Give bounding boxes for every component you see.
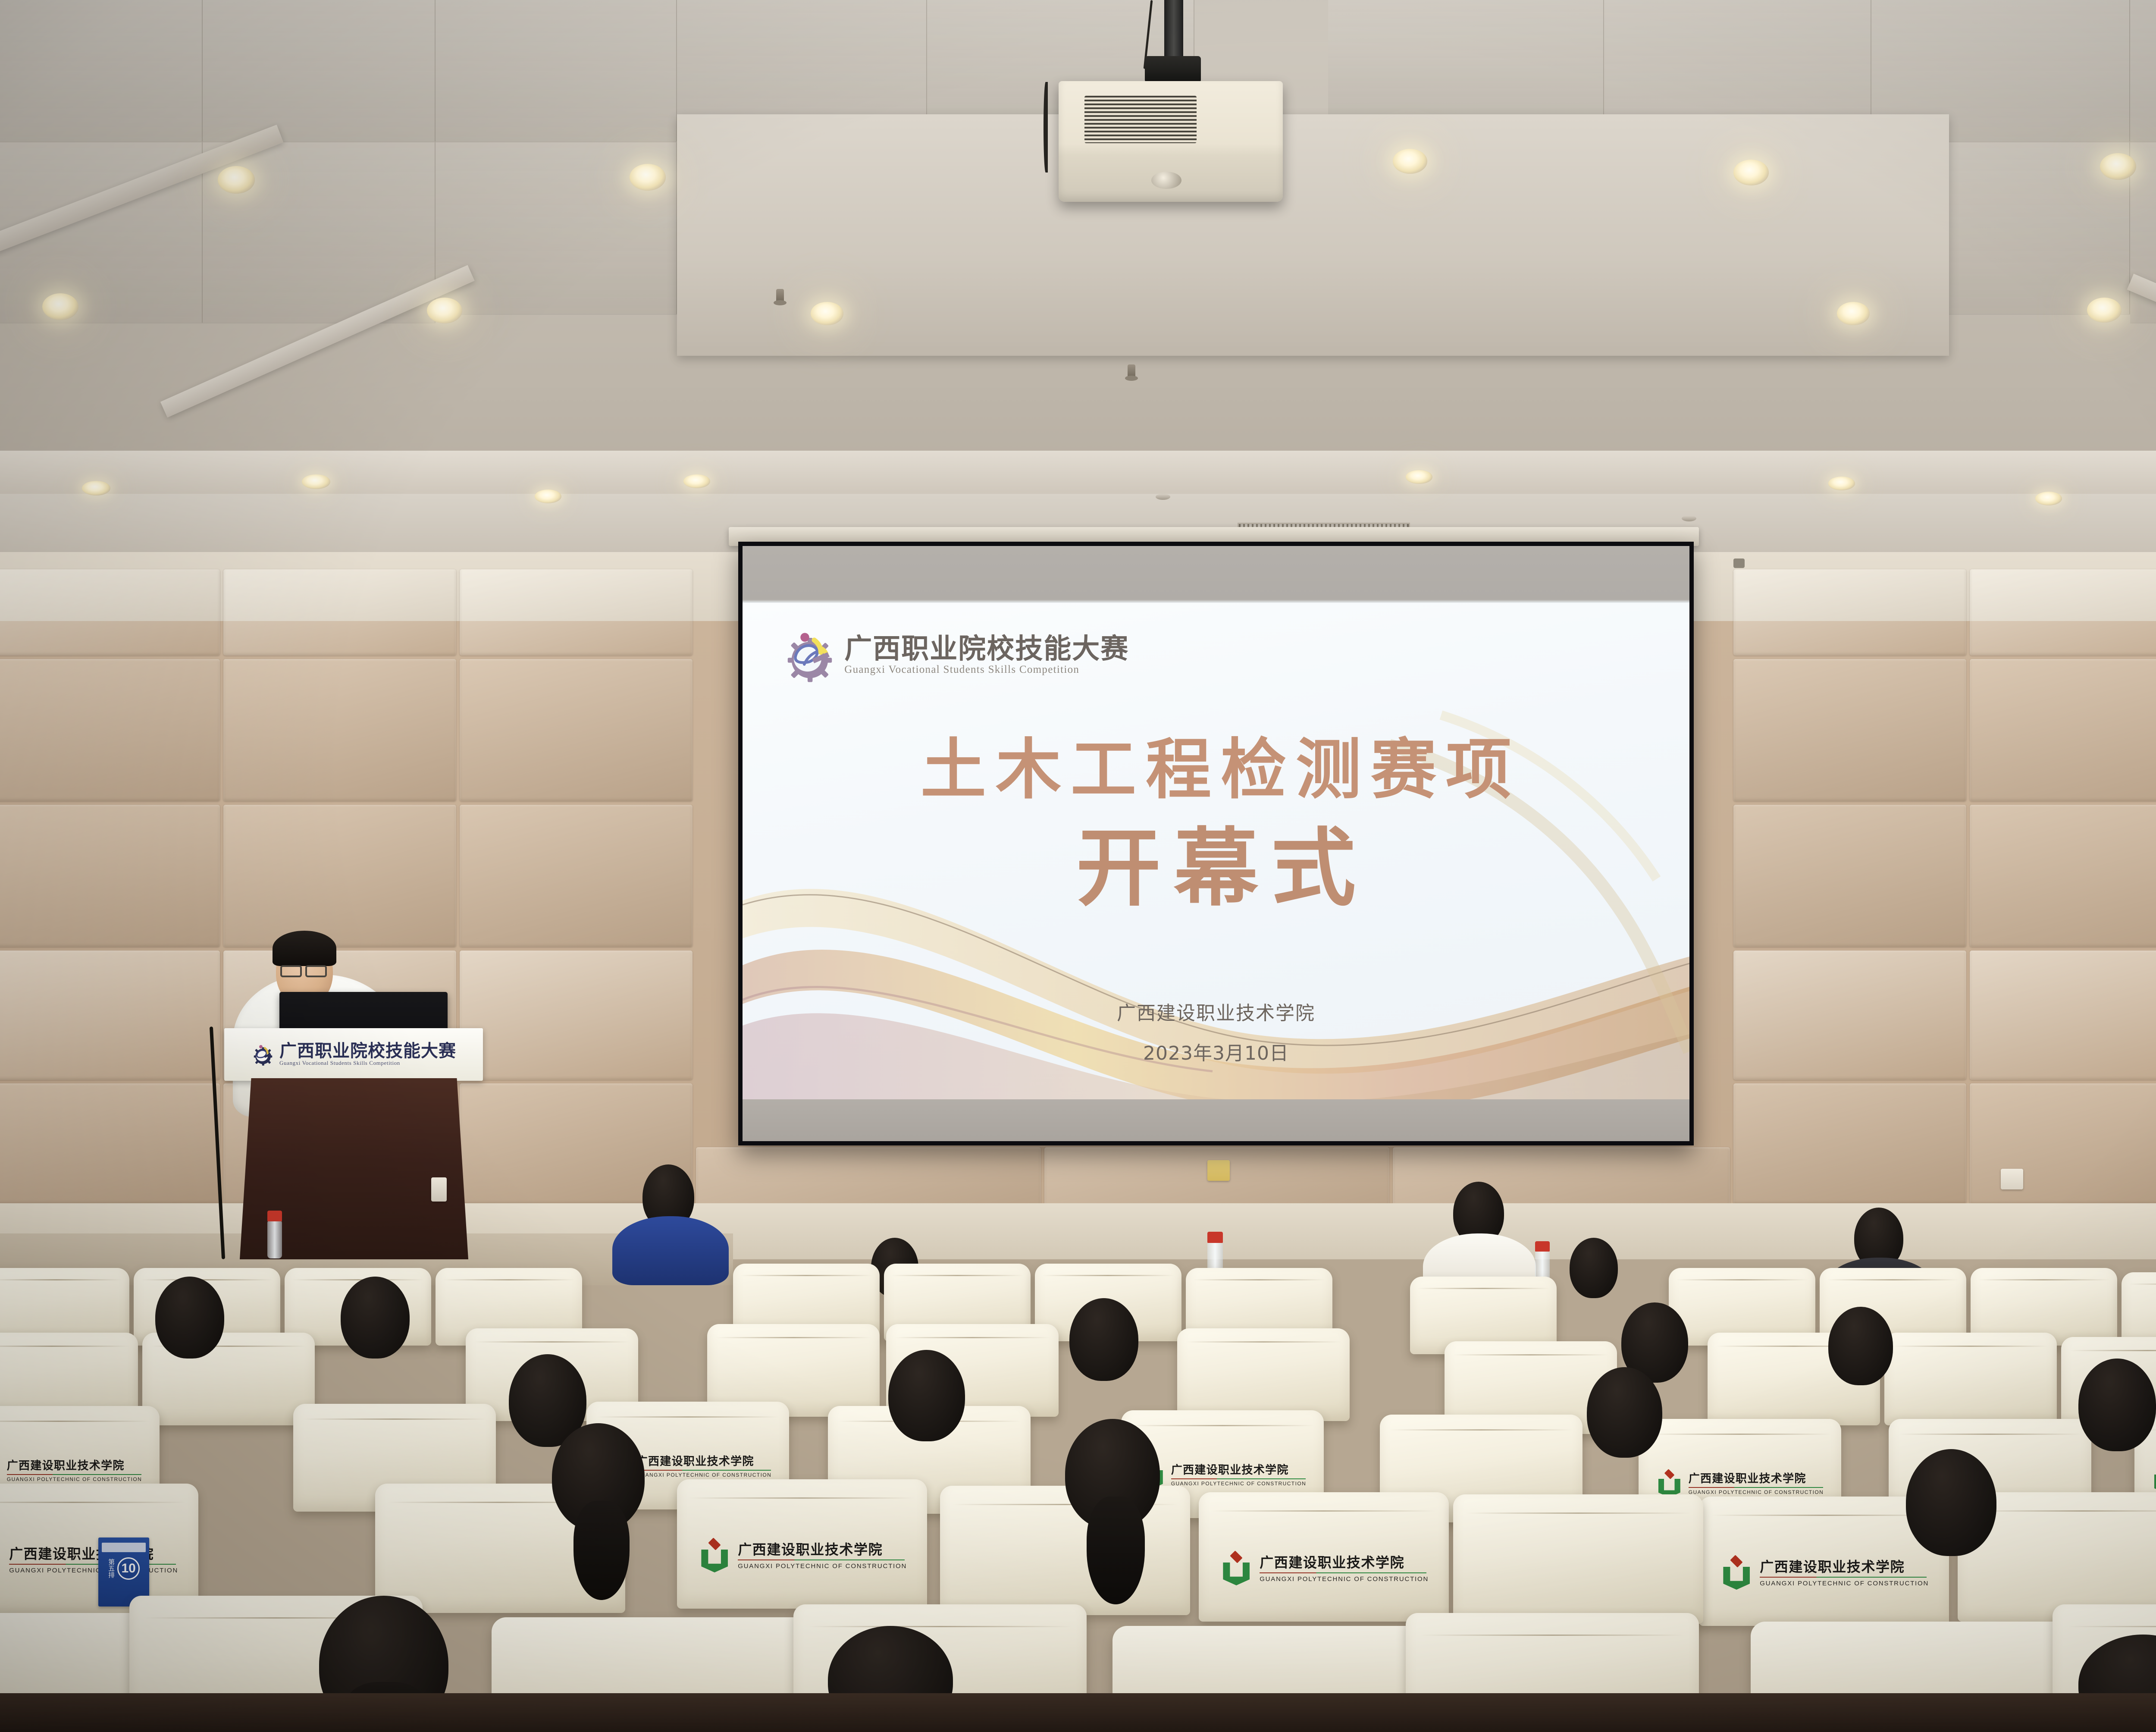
chair-logo-cn: 广西建设职业技术学院 [1689, 1473, 1823, 1484]
chair[interactable] [1453, 1494, 1703, 1624]
floor [0, 1693, 2156, 1732]
audience-hair [573, 1501, 630, 1600]
wall-panel [1733, 1083, 1966, 1204]
wall-panel [1970, 805, 2156, 947]
chair-logo-en: GUANGXI POLYTECHNIC OF CONSTRUCTION [1689, 1490, 1823, 1495]
presenter-hair [273, 931, 336, 966]
wall-panel [460, 805, 693, 947]
chair-logo: 广西建设职业技术学院 GUANGXI POLYTECHNIC OF CONSTR… [1721, 1557, 1927, 1590]
chair-logo: 广西建设职业技术学院 GUANGXI POLYTECHNIC OF CONSTR… [1221, 1553, 1426, 1585]
audience-head [1570, 1238, 1618, 1298]
seat-number: 10 [117, 1557, 140, 1580]
chair-logo-en: GUANGXI POLYTECHNIC OF CONSTRUCTION [9, 1567, 176, 1574]
sprinkler-head [1128, 364, 1135, 379]
podium-outlet[interactable] [431, 1177, 447, 1202]
projection-screen[interactable]: 广西职业院校技能大赛 Guangxi Vocational Students S… [738, 542, 1694, 1145]
ceiling-downlight [683, 474, 710, 488]
ceiling-downlight [630, 164, 666, 191]
chair-logo-cn: 广西建设职业技术学院 [7, 1460, 141, 1472]
ceiling-downlight [2100, 153, 2136, 180]
wall-panel [1733, 951, 1966, 1080]
ceiling-downlight [2087, 298, 2122, 323]
ceiling-downlight [2035, 492, 2062, 505]
smoke-detector [1682, 515, 1696, 521]
ceiling-recess [677, 114, 1949, 356]
ceiling-panel [0, 0, 203, 142]
wall-panel [223, 659, 456, 801]
chair-logo-en: GUANGXI POLYTECHNIC OF CONSTRUCTION [1171, 1481, 1306, 1486]
wall-panel [1733, 569, 1966, 656]
chair-logo-cn: 广西建设职业技术学院 [1260, 1556, 1426, 1569]
gxpc-logo-icon [1221, 1553, 1251, 1585]
ceiling-downlight [1837, 302, 1870, 325]
chair-logo-en: GUANGXI POLYTECHNIC OF CONSTRUCTION [738, 1563, 905, 1569]
ceiling-projector [1059, 81, 1283, 202]
wall-panel [223, 805, 456, 947]
chair-logo-cn: 广西建设职业技术学院 [1760, 1560, 1927, 1574]
ceiling-panel [1328, 0, 1604, 116]
wall-panel [0, 659, 220, 801]
ceiling-downlight [1733, 160, 1769, 185]
ceiling-downlight [1828, 477, 1855, 490]
chair-logo-en: GUANGXI POLYTECHNIC OF CONSTRUCTION [636, 1472, 771, 1478]
auditorium-scene: 广西职业院校技能大赛 Guangxi Vocational Students S… [0, 0, 2156, 1732]
audience-head [1587, 1367, 1662, 1458]
water-bottle[interactable] [267, 1221, 282, 1258]
gxpc-logo-icon [1657, 1471, 1682, 1497]
podium-banner: 广西职业院校技能大赛 Guangxi Vocational Students S… [224, 1028, 483, 1081]
competition-logo-en: Guangxi Vocational Students Skills Compe… [844, 664, 1129, 676]
projector-bracket [1145, 56, 1201, 83]
chair-logo-en: GUANGXI POLYTECHNIC OF CONSTRUCTION [1760, 1580, 1927, 1587]
slide-subtitle: 开幕式 [743, 826, 1689, 911]
audience-head [155, 1277, 224, 1359]
screen-surface: 广西职业院校技能大赛 Guangxi Vocational Students S… [743, 546, 1689, 1141]
slide-organization: 广西建设职业技术学院 [743, 998, 1689, 1025]
chair-logo-cn: 广西建设职业技术学院 [1171, 1465, 1306, 1476]
competition-logo: 广西职业院校技能大赛 Guangxi Vocational Students S… [782, 628, 1129, 683]
projector-power-cable [1044, 82, 1048, 173]
chair-logo: 广西建设职业技术学院 GUANGXI POLYTECHNIC OF CONSTR… [0, 1458, 141, 1484]
audience-head [2078, 1359, 2156, 1451]
gxpc-logo-icon [1721, 1557, 1752, 1590]
wall-panel [460, 659, 693, 801]
slide-title: 土木工程检测赛项 [743, 737, 1689, 803]
wall-sensor [1733, 559, 1745, 568]
wall-panel [460, 951, 693, 1080]
ceiling-downlight [811, 302, 843, 325]
wall-panel [1970, 569, 2156, 656]
gxpc-logo-icon [0, 1544, 1, 1577]
ceiling-downlight [1393, 149, 1427, 174]
sprinkler-head [776, 289, 784, 304]
chair-logo: 广西建设职业技术学院 GUANGXI POLYTECHNIC OF CONSTR… [699, 1540, 905, 1572]
gear-icon [251, 1042, 275, 1067]
ceiling-downlight [1406, 470, 1432, 484]
chair-logo-cn: 广西建设职业技术学院 [636, 1456, 771, 1467]
wall-panel [1970, 1083, 2156, 1204]
chair-logo-cn: 广西建设职业技术学院 [738, 1543, 905, 1556]
ceiling-panel [203, 0, 436, 142]
wall-outlet[interactable] [2001, 1169, 2023, 1189]
chair[interactable] [1177, 1328, 1350, 1421]
chair-logo: 广西建设职业技术学院 GUANGXI POLYTECHNIC OF CONSTR… [1139, 1462, 1305, 1489]
podium-banner-cn: 广西职业院校技能大赛 [279, 1042, 456, 1060]
audience-head [1828, 1307, 1893, 1385]
audience-hair [1087, 1497, 1145, 1604]
gxpc-logo-icon [2153, 1466, 2156, 1493]
chair-logo: 广西建设职业技术学院 GUANGXI POLYTECHNIC OF CONSTR… [2153, 1466, 2156, 1493]
smoke-detector [1156, 494, 1170, 500]
wall-panel [223, 569, 456, 656]
ceiling-panel [2130, 0, 2156, 142]
gxpc-logo-icon [699, 1540, 730, 1572]
wall-panel [0, 805, 220, 947]
chair-logo-en: GUANGXI POLYTECHNIC OF CONSTRUCTION [1260, 1576, 1426, 1582]
wall-panel [0, 569, 220, 656]
ceiling-downlight [535, 489, 561, 503]
audience-head [341, 1277, 410, 1359]
chair[interactable]: 广西建设职业技术学院 GUANGXI POLYTECHNIC OF CONSTR… [1199, 1492, 1449, 1622]
gear-icon [782, 628, 837, 683]
wall-panel [1733, 659, 1966, 801]
ceiling-downlight [82, 481, 110, 496]
chair-logo: 广西建设职业技术学院 GUANGXI POLYTECHNIC OF CONSTR… [1657, 1471, 1823, 1497]
floor-outlet[interactable] [1207, 1160, 1230, 1181]
ceiling-panel [677, 0, 927, 129]
competition-logo-cn: 广西职业院校技能大赛 [844, 635, 1129, 663]
slide-date: 2023年3月10日 [743, 1038, 1689, 1065]
wall-panel [0, 1083, 220, 1204]
wall-panel [1970, 951, 2156, 1080]
seat-row-label: 第五排 [108, 1559, 114, 1578]
ceiling-downlight [302, 474, 330, 489]
wall-panel [1970, 659, 2156, 801]
ceiling-downlight [427, 298, 462, 323]
audience-head [1906, 1449, 1996, 1556]
presentation-slide: 广西职业院校技能大赛 Guangxi Vocational Students S… [743, 603, 1689, 1099]
ceiling-panel [436, 0, 677, 142]
ceiling-downlight [42, 293, 78, 320]
chair-logo-cn: 广西建设职业技术学院 [9, 1547, 176, 1561]
chair[interactable] [1884, 1333, 2057, 1425]
glasses-icon [280, 965, 302, 977]
chair-logo: 广西建设职业技术学院 GUANGXI POLYTECHNIC OF CONSTR… [0, 1544, 176, 1577]
audience-head [888, 1350, 965, 1441]
audience-head [1069, 1298, 1138, 1381]
audience-shoulders [612, 1216, 729, 1285]
projector-mount-pole [1164, 0, 1183, 65]
wall-panel [0, 951, 220, 1080]
chair[interactable]: 广西建设职业技术学院 GUANGXI POLYTECHNIC OF CONSTR… [677, 1479, 927, 1609]
wall-panel [460, 569, 693, 656]
ceiling-downlight [218, 166, 255, 194]
glasses-icon [305, 965, 327, 977]
wall-panel [1733, 805, 1966, 947]
chair-logo-en: GUANGXI POLYTECHNIC OF CONSTRUCTION [7, 1477, 141, 1482]
ceiling-panel [1604, 0, 1871, 129]
